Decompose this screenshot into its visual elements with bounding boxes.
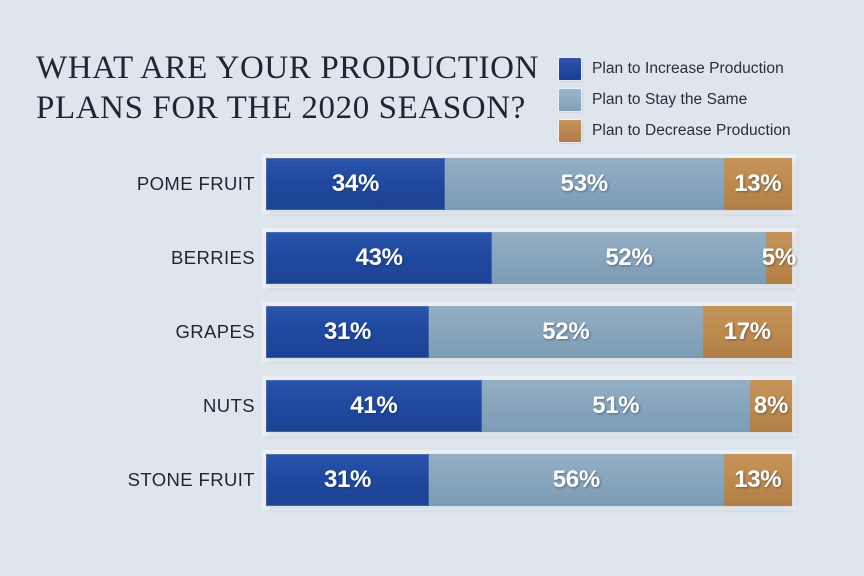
segment-value-increase: 31% — [324, 466, 371, 494]
stacked-bar-stone-fruit: 31% 56% 13% — [266, 454, 792, 506]
bar-row: GRAPES 31% 52% 17% — [0, 306, 864, 358]
chart-title: WHAT ARE YOUR PRODUCTION PLANS FOR THE 2… — [36, 48, 556, 128]
segment-value-same: 52% — [542, 318, 589, 346]
category-label-nuts: NUTS — [203, 380, 255, 432]
segment-value-decrease: 13% — [734, 170, 781, 198]
segment-same: 52% — [492, 232, 766, 284]
segment-value-increase: 34% — [332, 170, 379, 198]
segment-value-same: 51% — [592, 392, 639, 420]
legend-item-increase: Plan to Increase Production — [559, 56, 854, 82]
segment-same: 52% — [429, 306, 703, 358]
segment-value-increase: 43% — [356, 244, 403, 272]
segment-increase: 31% — [266, 306, 429, 358]
segment-increase: 43% — [266, 232, 492, 284]
category-label-grapes: GRAPES — [175, 306, 255, 358]
segment-decrease: 17% — [703, 306, 792, 358]
bar-row: STONE FRUIT 31% 56% 13% — [0, 454, 864, 506]
segment-value-same: 52% — [605, 244, 652, 272]
category-label-berries: BERRIES — [171, 232, 255, 284]
legend-swatch-increase-icon — [559, 58, 581, 80]
stacked-bar-nuts: 41% 51% 8% — [266, 380, 792, 432]
segment-increase: 41% — [266, 380, 482, 432]
segment-same: 56% — [429, 454, 724, 506]
segment-value-same: 53% — [561, 170, 608, 198]
segment-value-same: 56% — [553, 466, 600, 494]
legend-label-decrease: Plan to Decrease Production — [592, 122, 791, 140]
segment-decrease: 5% — [766, 232, 792, 284]
stacked-bar-pome-fruit: 34% 53% 13% — [266, 158, 792, 210]
segment-value-decrease: 13% — [734, 466, 781, 494]
category-label-pome-fruit: POME FRUIT — [137, 158, 255, 210]
legend-swatch-same-icon — [559, 89, 581, 111]
segment-value-increase: 41% — [350, 392, 397, 420]
stacked-bar-grapes: 31% 52% 17% — [266, 306, 792, 358]
stacked-bar-berries: 43% 52% 5% — [266, 232, 792, 284]
chart-legend: Plan to Increase Production Plan to Stay… — [559, 56, 854, 149]
legend-label-same: Plan to Stay the Same — [592, 91, 747, 109]
segment-increase: 34% — [266, 158, 445, 210]
segment-value-decrease: 8% — [754, 392, 788, 420]
stacked-bar-chart: WHAT ARE YOUR PRODUCTION PLANS FOR THE 2… — [0, 0, 864, 576]
segment-decrease: 13% — [724, 454, 792, 506]
segment-decrease: 8% — [750, 380, 792, 432]
segment-value-decrease: 17% — [724, 318, 771, 346]
legend-item-same: Plan to Stay the Same — [559, 87, 854, 113]
segment-same: 53% — [445, 158, 724, 210]
category-label-stone-fruit: STONE FRUIT — [128, 454, 255, 506]
legend-label-increase: Plan to Increase Production — [592, 60, 784, 78]
chart-title-line-2: PLANS FOR THE 2020 SEASON? — [36, 88, 556, 128]
legend-item-decrease: Plan to Decrease Production — [559, 118, 854, 144]
segment-value-decrease: 5% — [762, 244, 796, 272]
bar-row: POME FRUIT 34% 53% 13% — [0, 158, 864, 210]
segment-increase: 31% — [266, 454, 429, 506]
segment-decrease: 13% — [724, 158, 792, 210]
segment-same: 51% — [482, 380, 750, 432]
segment-value-increase: 31% — [324, 318, 371, 346]
bar-row: BERRIES 43% 52% 5% — [0, 232, 864, 284]
bar-rows: POME FRUIT 34% 53% 13% BERRIES 43% — [0, 158, 864, 528]
bar-row: NUTS 41% 51% 8% — [0, 380, 864, 432]
chart-title-line-1: WHAT ARE YOUR PRODUCTION — [36, 48, 556, 88]
legend-swatch-decrease-icon — [559, 120, 581, 142]
